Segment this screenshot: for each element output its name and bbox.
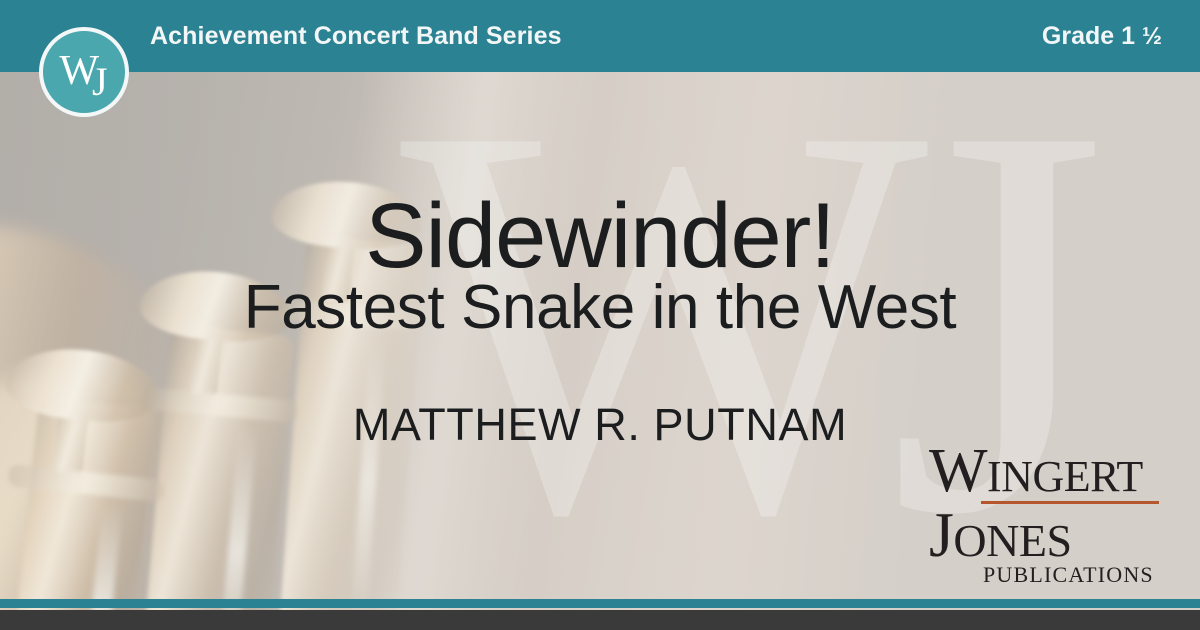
header-bar: Achievement Concert Band Series Grade 1 …	[0, 0, 1200, 72]
work-subtitle: Fastest Snake in the West	[0, 277, 1200, 339]
publisher-line-publications: PUBLICATIONS	[983, 562, 1164, 588]
publisher-logo: WINGERT JONES PUBLICATIONS	[929, 443, 1164, 588]
grade-fraction: ½	[1142, 23, 1162, 50]
grade-label: Grade 1 ½	[1042, 22, 1162, 51]
publisher-line-wingert: WINGERT	[929, 443, 1164, 500]
grade-number: Grade 1	[1042, 22, 1135, 50]
publisher-accent-rule	[981, 501, 1159, 504]
publisher-word-ingert: INGERT	[987, 452, 1143, 501]
badge-letter-w: W	[59, 48, 96, 94]
publisher-dropcap-j: J	[929, 499, 953, 570]
wj-badge-initials: WJ	[59, 50, 108, 92]
composer-name: MATTHEW R. PUTNAM	[0, 402, 1200, 447]
series-title: Achievement Concert Band Series	[150, 22, 562, 51]
work-title: Sidewinder!	[0, 190, 1200, 282]
footer-teal-rule	[0, 599, 1200, 608]
footer-dark-bar	[0, 610, 1200, 630]
wj-logo-badge: WJ	[39, 27, 129, 117]
badge-letter-j: J	[92, 59, 105, 104]
album-cover: WJ Achievement Concert Band Series Grade…	[0, 0, 1200, 630]
publisher-word-ones: ONES	[953, 515, 1071, 566]
publisher-dropcap-w: W	[929, 437, 987, 505]
publisher-line-jones: JONES	[929, 505, 1164, 566]
